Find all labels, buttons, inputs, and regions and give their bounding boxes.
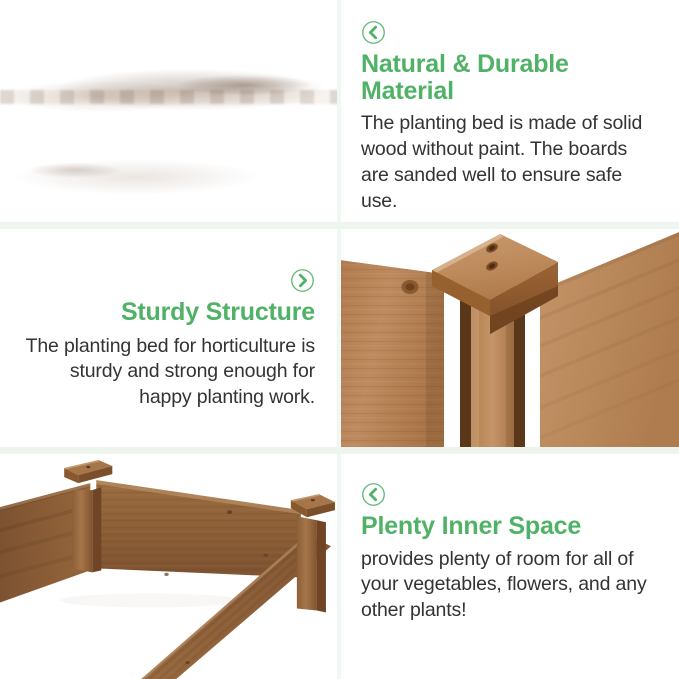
chevron-right-circle-icon (290, 268, 315, 293)
photo-corner-joint (340, 224, 679, 450)
panel-headline: Plenty Inner Space (361, 513, 581, 540)
panel-body: The planting bed is made of solid wood w… (361, 111, 659, 215)
corner-joint-illustration (340, 224, 679, 450)
wood-knot-band (0, 90, 340, 104)
photo-wood-texture (0, 0, 340, 224)
panel-body: The planting bed for horticulture is stu… (21, 334, 315, 412)
planter-bed-illustration (0, 450, 340, 679)
chevron-left-circle-icon (361, 482, 386, 507)
wood-grain-texture (0, 0, 340, 224)
chevron-left-circle-icon (361, 20, 386, 45)
panel-sturdy-structure: Sturdy Structure The planting bed for ho… (0, 224, 340, 450)
panel-headline: Natural & Durable Material (361, 51, 611, 104)
panel-plenty-inner-space: Plenty Inner Space provides plenty of ro… (340, 450, 679, 679)
photo-planter-frame (0, 450, 340, 679)
panel-natural-durable-material: Natural & Durable Material The planting … (340, 0, 679, 224)
panel-headline: Sturdy Structure (121, 299, 315, 326)
panel-body: provides plenty of room for all of your … (361, 547, 659, 625)
product-infographic: Natural & Durable Material The planting … (0, 0, 679, 679)
